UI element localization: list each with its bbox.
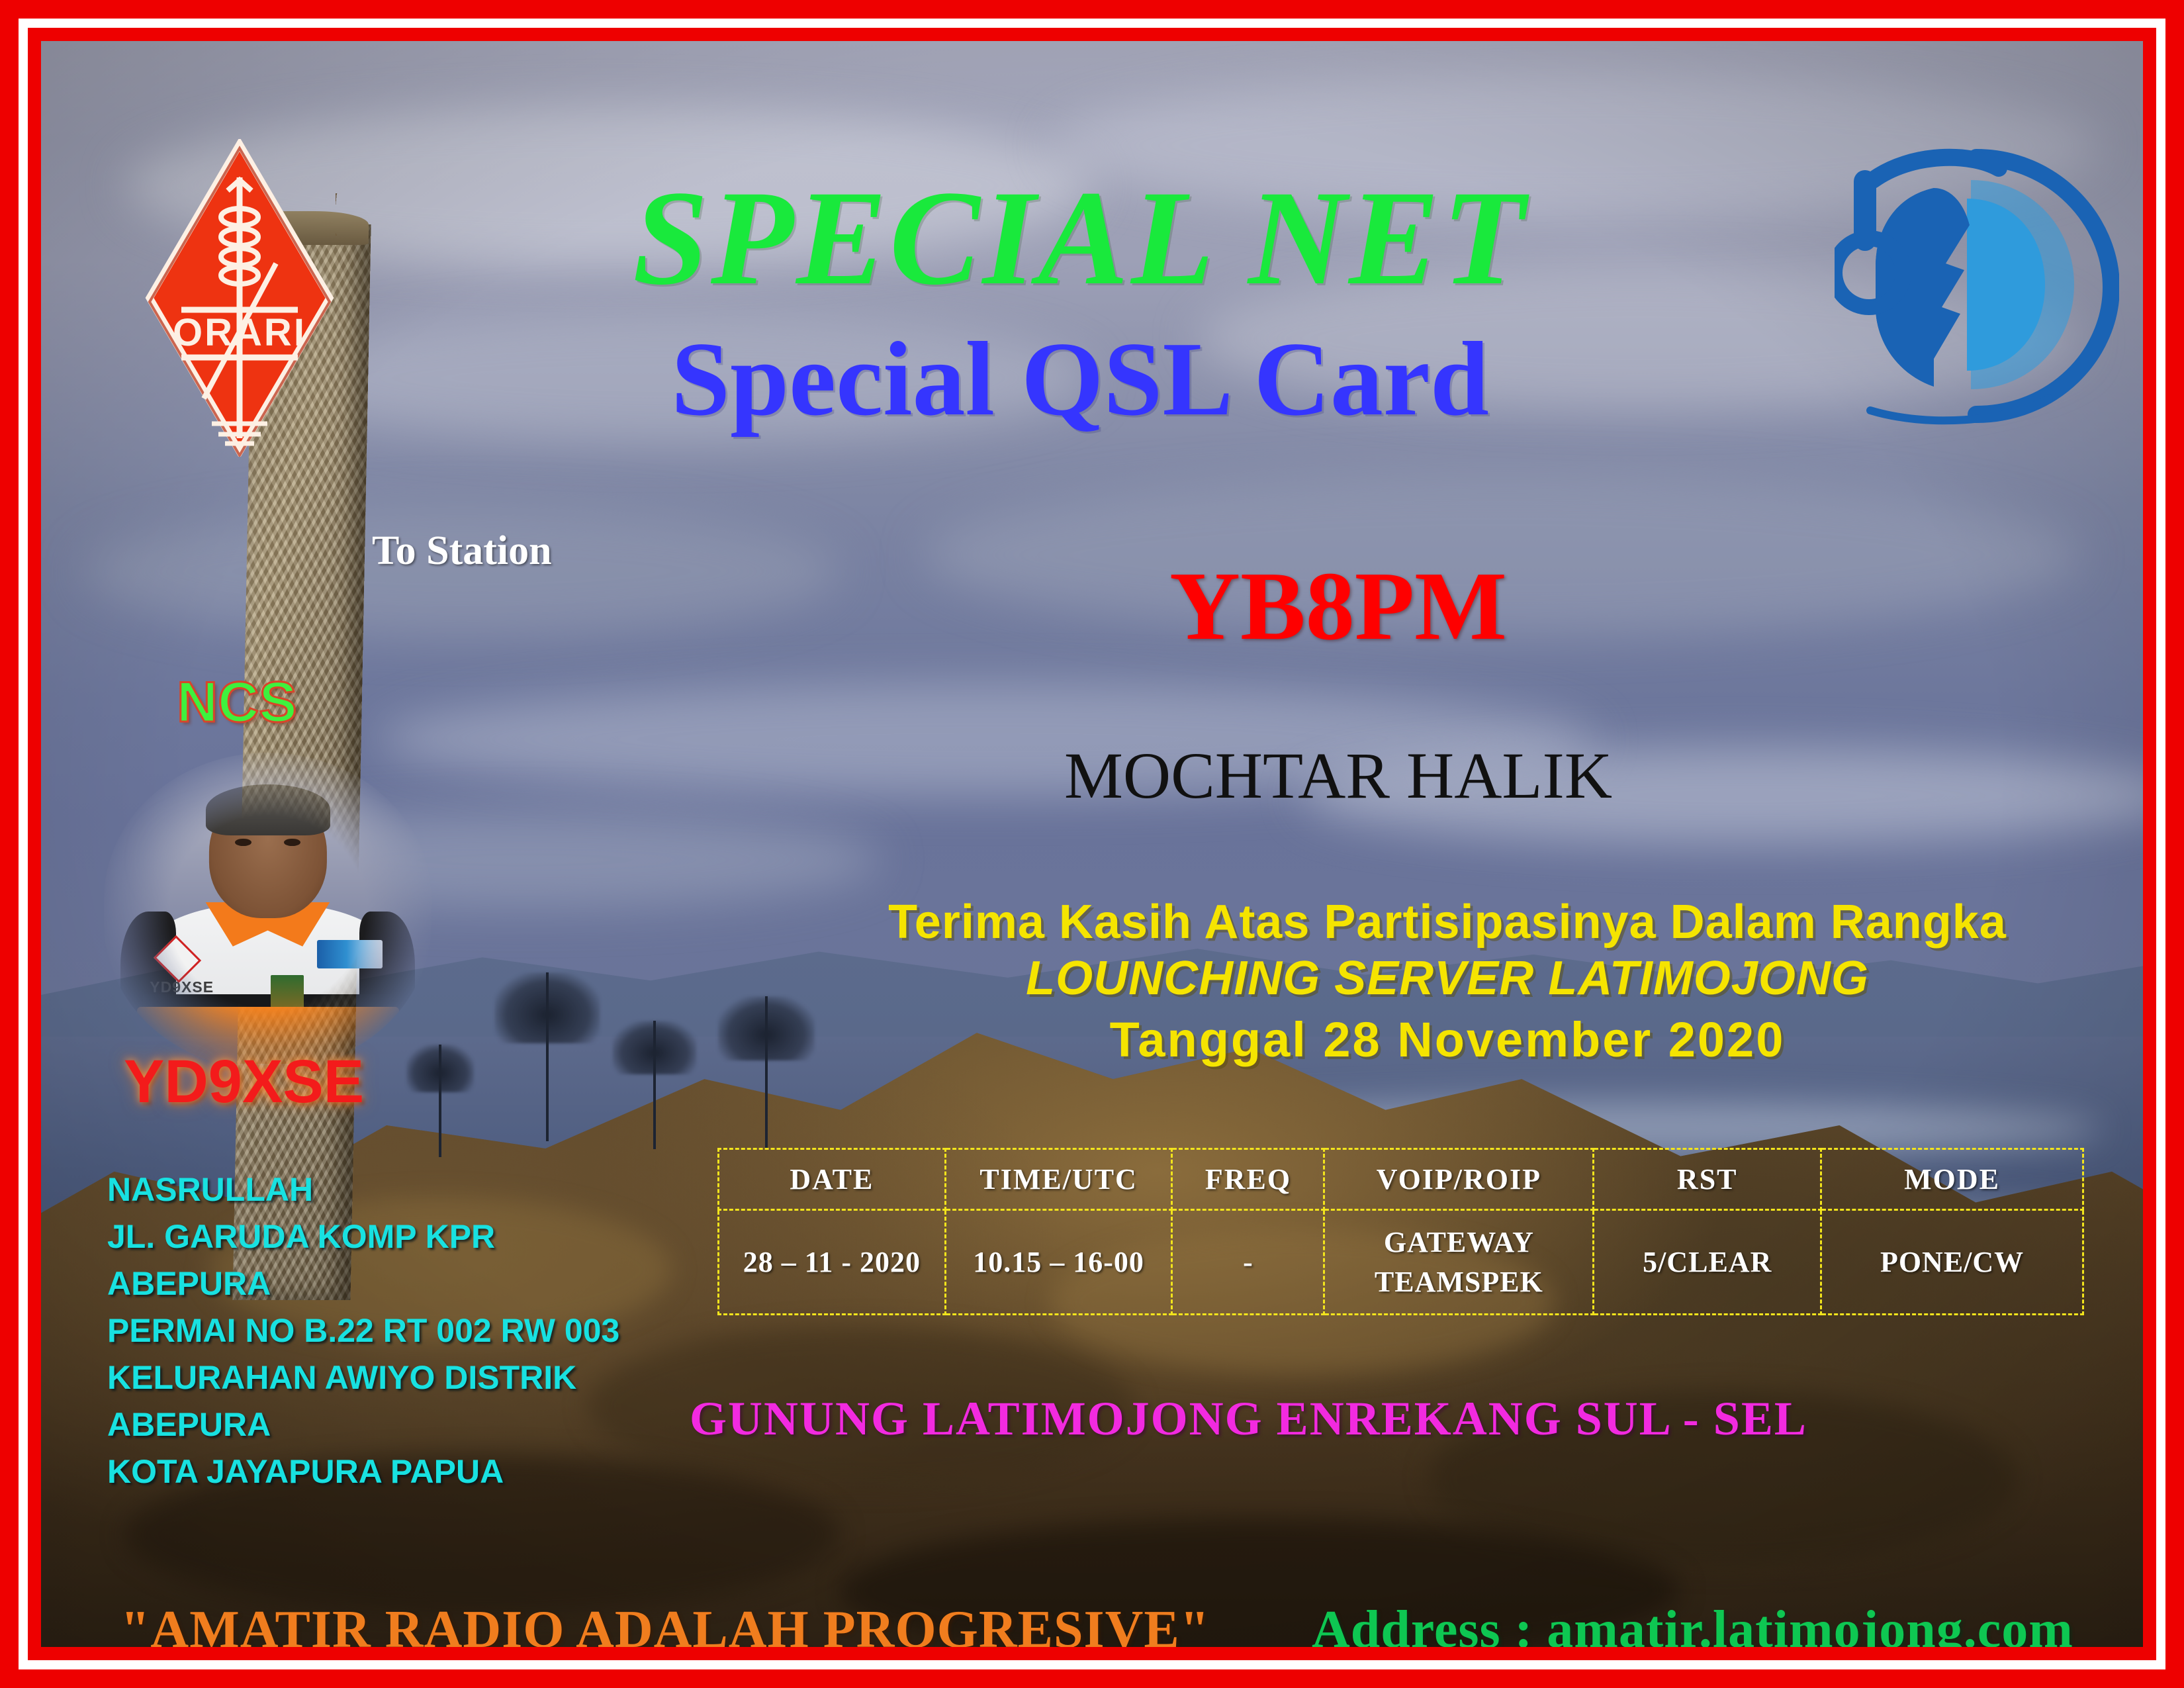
qso-log-table: DATE TIME/UTC FREQ VOIP/ROIP RST MODE 28… (717, 1148, 2084, 1315)
table-header-freq: FREQ (1172, 1149, 1324, 1210)
location-caption: GUNUNG LATIMOJONG ENREKANG SUL - SEL (690, 1391, 1807, 1446)
photo-hair (205, 784, 330, 835)
ncs-callsign: YD9XSE (124, 1047, 364, 1117)
thanks-line-3-date: Tanggal 28 November 2020 (782, 1008, 2113, 1072)
table-header-mode: MODE (1821, 1149, 2083, 1210)
ncs-label: NCS (177, 670, 297, 735)
thanks-line-2-event: LOUNCHING SERVER LATIMOJONG (782, 950, 2113, 1008)
card-content: ORARI (41, 41, 2143, 1647)
address-line: KELURAHAN AWIYO DISTRIK (107, 1354, 619, 1401)
photo-shirt-callsign-text: YD9XSE (150, 978, 214, 996)
photo-eye-left (235, 839, 251, 847)
table-cell-date: 28 – 11 - 2020 (719, 1210, 946, 1315)
address-line: ABEPURA (107, 1260, 619, 1307)
svg-text:ORARI: ORARI (173, 311, 306, 354)
table-cell-voip-roip: GATEWAY TEAMSPEK (1324, 1210, 1594, 1315)
footer-slogan: "AMATIR RADIO ADALAH PROGRESIVE" (120, 1600, 1210, 1647)
orari-logo: ORARI (140, 139, 339, 457)
table-cell-mode: PONE/CW (1821, 1210, 2083, 1315)
photo-chest-logo (317, 940, 383, 968)
headset-profile-logo (1835, 140, 2119, 432)
footer-web-address: Address : amatir.latimojong.com (1312, 1600, 2073, 1647)
table-header-row: DATE TIME/UTC FREQ VOIP/ROIP RST MODE (719, 1149, 2083, 1210)
table-cell-time: 10.15 – 16-00 (945, 1210, 1172, 1315)
table-header-voip-roip: VOIP/ROIP (1324, 1149, 1594, 1210)
address-line: PERMAI NO B.22 RT 002 RW 003 (107, 1307, 619, 1354)
table-cell-freq: - (1172, 1210, 1324, 1315)
address-line: NASRULLAH (107, 1166, 619, 1213)
to-station-label: To Station (372, 528, 552, 575)
table-header-time: TIME/UTC (945, 1149, 1172, 1210)
operator-photo-avatar: YD9XSE (104, 753, 432, 1070)
page-title-special-net: SPECIAL NET (451, 170, 1709, 306)
thanks-line-1: Terima Kasih Atas Partisipasinya Dalam R… (782, 895, 2113, 950)
qsl-card-outer-frame: ORARI (0, 0, 2184, 1688)
table-row: 28 – 11 - 2020 10.15 – 16-00 - GATEWAY T… (719, 1210, 2083, 1315)
qsl-card: ORARI (41, 41, 2143, 1647)
ncs-address-block: NASRULLAH JL. GARUDA KOMP KPR ABEPURA PE… (107, 1166, 619, 1495)
address-line: KOTA JAYAPURA PAPUA (107, 1448, 619, 1495)
address-line: JL. GARUDA KOMP KPR (107, 1213, 619, 1260)
address-line: ABEPURA (107, 1401, 619, 1448)
operator-name: MOCHTAR HALIK (901, 743, 1775, 809)
table-cell-rst: 5/CLEAR (1594, 1210, 1821, 1315)
thanks-block: Terima Kasih Atas Partisipasinya Dalam R… (782, 895, 2113, 1072)
photo-eye-right (284, 839, 300, 847)
page-subtitle-special-qsl-card: Special QSL Card (451, 326, 1709, 432)
table-header-rst: RST (1594, 1149, 1821, 1210)
table-header-date: DATE (719, 1149, 946, 1210)
station-callsign: YB8PM (948, 557, 1729, 655)
